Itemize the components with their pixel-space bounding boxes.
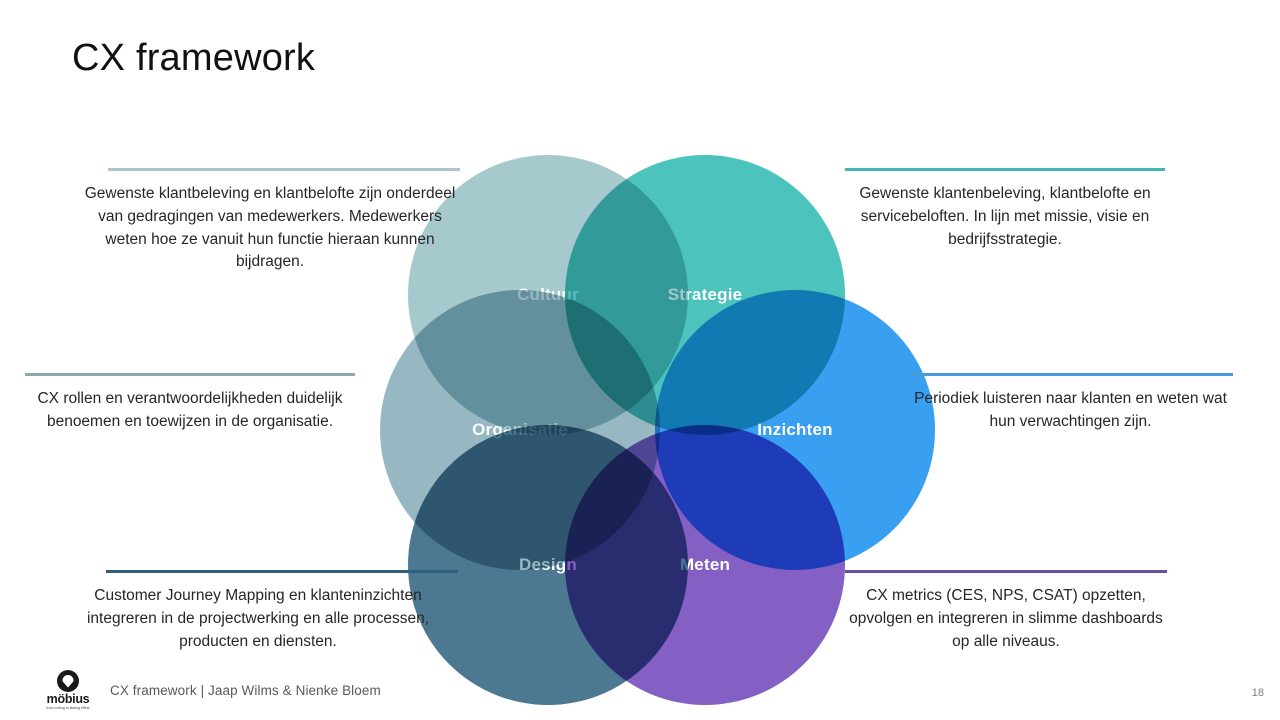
callout-rule-inzichten bbox=[908, 373, 1233, 376]
callout-text-meten: CX metrics (CES, NPS, CSAT) opzetten, op… bbox=[845, 585, 1167, 653]
callout-rule-strategie bbox=[845, 168, 1165, 171]
slide-canvas: CX framework Cultuur Strategie Inzichten… bbox=[0, 0, 1280, 720]
callout-cultuur: Gewenste klantbeleving en klantbelofte z… bbox=[80, 168, 460, 274]
venn-circle-organisatie[interactable]: Organisatie bbox=[380, 290, 660, 570]
callout-rule-design bbox=[106, 570, 458, 573]
footer-caption: CX framework | Jaap Wilms & Nienke Bloem bbox=[110, 683, 381, 698]
mobius-wordmark: möbius bbox=[47, 693, 90, 706]
venn-label-strategie: Strategie bbox=[668, 285, 743, 305]
mobius-logo: möbius from coding to lasting effect bbox=[40, 670, 96, 714]
callout-text-organisatie: CX rollen en verantwoordelijkheden duide… bbox=[25, 388, 355, 434]
venn-label-organisatie: Organisatie bbox=[472, 420, 568, 440]
callout-inzichten: Periodiek luisteren naar klanten en wete… bbox=[908, 373, 1233, 434]
callout-design: Customer Journey Mapping en klanteninzic… bbox=[58, 570, 458, 653]
venn-label-inzichten: Inzichten bbox=[757, 420, 832, 440]
slide-footer: möbius from coding to lasting effect CX … bbox=[0, 662, 1280, 720]
callout-rule-meten bbox=[845, 570, 1167, 573]
callout-text-inzichten: Periodiek luisteren naar klanten en wete… bbox=[908, 388, 1233, 434]
callout-organisatie: CX rollen en verantwoordelijkheden duide… bbox=[25, 373, 355, 434]
page-title: CX framework bbox=[72, 36, 315, 82]
callout-meten: CX metrics (CES, NPS, CSAT) opzetten, op… bbox=[845, 570, 1167, 653]
callout-rule-organisatie bbox=[25, 373, 355, 376]
callout-rule-cultuur bbox=[108, 168, 460, 171]
callout-strategie: Gewenste klantenbeleving, klantbelofte e… bbox=[845, 168, 1165, 251]
callout-text-design: Customer Journey Mapping en klanteninzic… bbox=[58, 585, 458, 653]
callout-text-cultuur: Gewenste klantbeleving en klantbelofte z… bbox=[80, 183, 460, 274]
callout-text-strategie: Gewenste klantenbeleving, klantbelofte e… bbox=[845, 183, 1165, 251]
mobius-tagline: from coding to lasting effect bbox=[46, 707, 89, 710]
mobius-mark-icon bbox=[57, 670, 79, 692]
page-number: 18 bbox=[1252, 687, 1264, 699]
